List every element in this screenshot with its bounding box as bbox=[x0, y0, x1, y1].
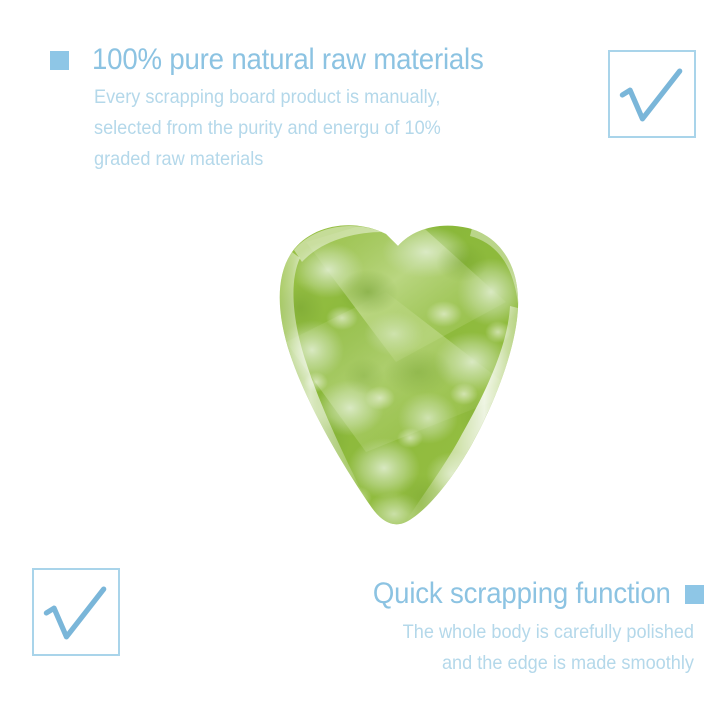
check-box-bottom-left bbox=[32, 568, 120, 656]
check-icon bbox=[610, 52, 694, 136]
feature-bottom-title-row: Quick scrapping function bbox=[284, 576, 704, 612]
product-image bbox=[276, 222, 528, 544]
feature-block-top: 100% pure natural raw materials Every sc… bbox=[50, 42, 590, 175]
square-bullet-icon bbox=[50, 51, 69, 70]
feature-top-title-row: 100% pure natural raw materials bbox=[50, 42, 590, 78]
feature-block-bottom: Quick scrapping function The whole body … bbox=[284, 576, 704, 679]
check-icon bbox=[34, 570, 118, 654]
jade-gua-sha-stone-graphic bbox=[276, 222, 528, 544]
feature-top-body-line: graded raw materials bbox=[94, 144, 555, 175]
feature-top-body-line: Every scrapping board product is manuall… bbox=[94, 82, 555, 113]
product-infographic: 100% pure natural raw materials Every sc… bbox=[0, 0, 720, 720]
feature-bottom-title: Quick scrapping function bbox=[373, 576, 671, 612]
feature-top-body-line: selected from the purity and energu of 1… bbox=[94, 113, 555, 144]
square-bullet-icon bbox=[685, 585, 704, 604]
feature-top-body: Every scrapping board product is manuall… bbox=[94, 82, 590, 175]
feature-top-title: 100% pure natural raw materials bbox=[92, 42, 484, 78]
feature-bottom-body: The whole body is carefully polished and… bbox=[284, 617, 694, 679]
feature-bottom-body-line: and the edge is made smoothly bbox=[313, 648, 694, 679]
feature-bottom-body-line: The whole body is carefully polished bbox=[313, 617, 694, 648]
check-box-top-right bbox=[608, 50, 696, 138]
